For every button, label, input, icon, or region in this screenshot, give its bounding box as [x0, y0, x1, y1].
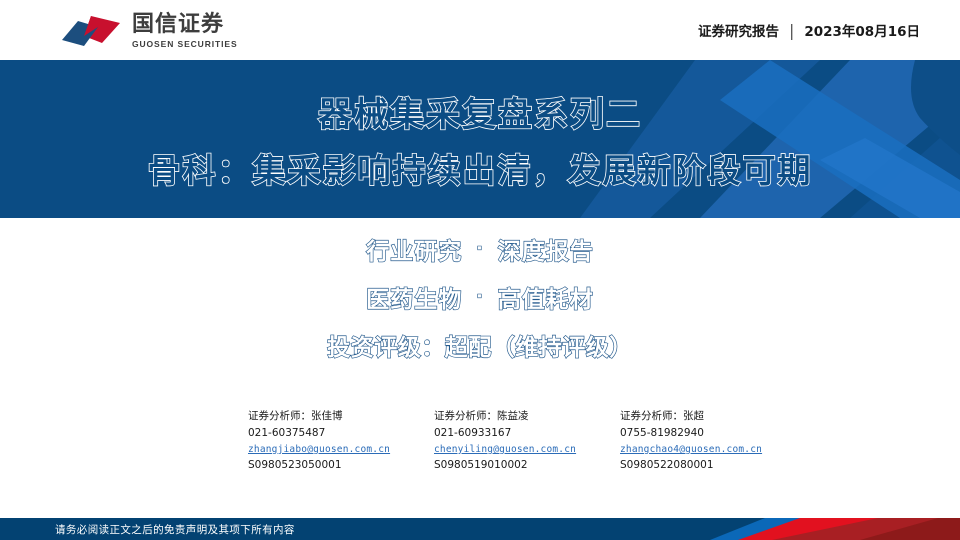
page-header: 国信证券 GUOSEN SECURITIES 证券研究报告 | 2023年08月…	[0, 0, 960, 60]
footer-accent-decoration	[710, 518, 960, 540]
banner-title-group: 器械集采复盘系列二 骨科：集采影响持续出清，发展新阶段可期	[0, 60, 960, 218]
analyst-license: S0980522080001	[620, 457, 820, 474]
page-footer: 请务必阅读正文之后的免责声明及其项下所有内容	[0, 518, 960, 540]
report-title-sub: 骨科：集采影响持续出清，发展新阶段可期	[148, 144, 813, 192]
analyst-name: 证券分析师：张超	[620, 408, 820, 425]
investment-rating-label: 投资评级：超配（维持评级）	[327, 328, 633, 362]
research-depth-label: 深度报告	[498, 232, 594, 266]
logo-name-cn: 国信证券	[132, 14, 238, 36]
header-divider: |	[789, 21, 794, 40]
report-classification-group: 行业研究 · 深度报告 医药生物 · 高值耗材 投资评级：超配（维持评级）	[0, 232, 960, 362]
analyst-card: 证券分析师：张佳博 021-60375487 zhangjiabo@guosen…	[248, 408, 434, 474]
separator-dot-icon: ·	[476, 287, 483, 307]
analyst-license: S0980523050001	[248, 457, 434, 474]
analyst-email-link[interactable]: zhangjiabo@guosen.com.cn	[248, 442, 434, 457]
analyst-list: 证券分析师：张佳博 021-60375487 zhangjiabo@guosen…	[248, 408, 888, 474]
subsector-label: 高值耗材	[498, 280, 594, 314]
logo-name-en: GUOSEN SECURITIES	[132, 40, 238, 49]
logo-wordmark: 国信证券 GUOSEN SECURITIES	[132, 14, 238, 49]
report-title-main: 器械集采复盘系列二	[318, 87, 642, 136]
report-date: 2023年08月16日	[804, 20, 920, 40]
title-banner: 器械集采复盘系列二 骨科：集采影响持续出清，发展新阶段可期	[0, 60, 960, 218]
analyst-email-link[interactable]: zhangchao4@guosen.com.cn	[620, 442, 820, 457]
analyst-name: 证券分析师：张佳博	[248, 408, 434, 425]
guosen-logo-icon	[58, 13, 124, 49]
classification-line-research: 行业研究 · 深度报告	[366, 232, 593, 266]
analyst-card: 证券分析师：张超 0755-81982940 zhangchao4@guosen…	[620, 408, 820, 474]
analyst-card: 证券分析师：陈益凌 021-60933167 chenyiling@guosen…	[434, 408, 620, 474]
header-meta: 证券研究报告 | 2023年08月16日	[698, 0, 920, 60]
analyst-phone: 021-60375487	[248, 425, 434, 442]
sector-label: 医药生物	[366, 280, 462, 314]
research-category-label: 行业研究	[366, 232, 462, 266]
analyst-phone: 0755-81982940	[620, 425, 820, 442]
classification-line-sector: 医药生物 · 高值耗材	[366, 280, 593, 314]
analyst-phone: 021-60933167	[434, 425, 620, 442]
analyst-license: S0980519010002	[434, 457, 620, 474]
report-type-label: 证券研究报告	[698, 20, 779, 40]
report-cover-page: 国信证券 GUOSEN SECURITIES 证券研究报告 | 2023年08月…	[0, 0, 960, 540]
analyst-name: 证券分析师：陈益凌	[434, 408, 620, 425]
analyst-email-link[interactable]: chenyiling@guosen.com.cn	[434, 442, 620, 457]
separator-dot-icon: ·	[476, 239, 483, 259]
brand-logo: 国信证券 GUOSEN SECURITIES	[58, 13, 238, 49]
footer-disclaimer: 请务必阅读正文之后的免责声明及其项下所有内容	[55, 518, 295, 540]
